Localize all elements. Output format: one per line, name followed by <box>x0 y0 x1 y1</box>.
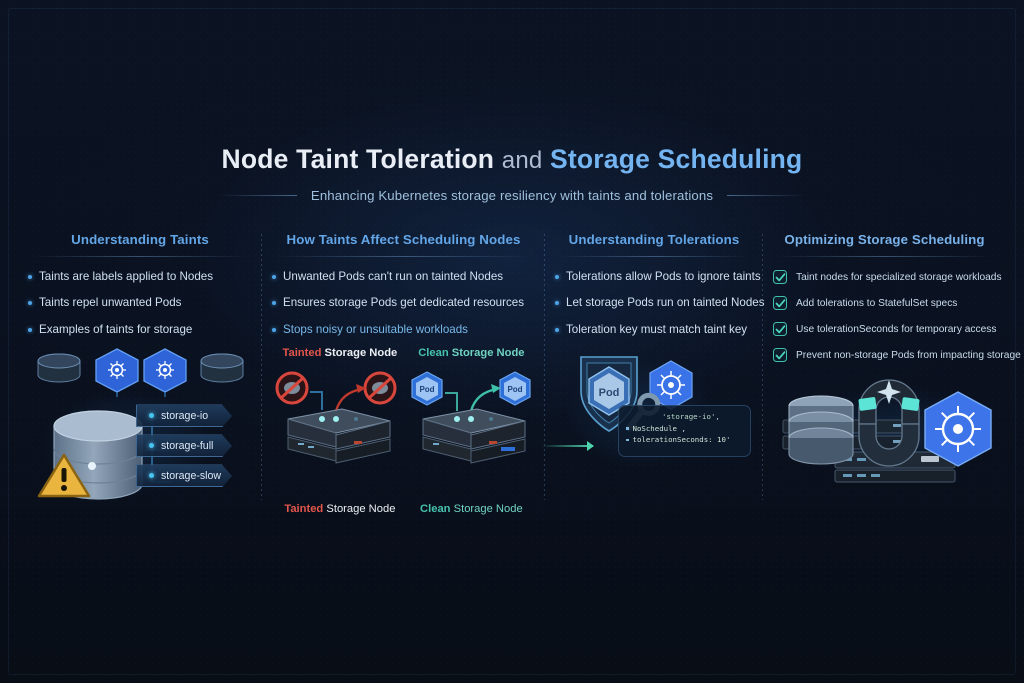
list-item: Toleration key must match taint key <box>555 323 753 337</box>
list-item: Examples of taints for storage <box>28 323 252 337</box>
header: Node Taint Toleration and Storage Schedu… <box>0 144 1024 203</box>
chip-label: storage-slow <box>161 470 221 482</box>
bullet-dot-icon <box>28 275 32 279</box>
list-item: Unwanted Pods can't run on tainted Nodes <box>272 270 535 284</box>
list-item: Taints repel unwanted Pods <box>28 296 252 310</box>
check-icon[interactable] <box>773 322 787 336</box>
no-entry-icon <box>277 373 307 403</box>
chip-storage-io[interactable]: storage-io <box>136 404 232 427</box>
column-optimizing-storage-scheduling: Optimizing Storage Scheduling Taint node… <box>763 232 1006 498</box>
column-4-checklist: Taint nodes for specialized storage work… <box>773 270 996 362</box>
chip-storage-slow[interactable]: storage-slow <box>136 464 232 487</box>
tainted-prefix: Tainted <box>284 503 323 515</box>
column-1-bullet-list: Taints are labels applied to Nodes Taint… <box>28 270 252 337</box>
toleration-code-panel: 'storage-io', NoSchedule , tolerationSec… <box>618 405 751 457</box>
warning-triangle-icon <box>36 451 92 501</box>
subtitle-rule-left <box>219 195 297 196</box>
svg-text:Pod: Pod <box>419 385 434 394</box>
column-1-heading-rule <box>32 256 248 257</box>
check-label: Use tolerationSeconds for temporary acce… <box>796 324 996 335</box>
pod-hexagon-icon: Pod <box>412 372 442 405</box>
column-4-heading-rule <box>777 256 992 257</box>
bullet-dot-icon <box>555 301 559 305</box>
top-node-icons <box>26 345 250 397</box>
chip-dot-icon <box>149 413 154 418</box>
column-understanding-taints: Understanding Taints Taints are labels a… <box>18 232 262 498</box>
list-item: Taints are labels applied to Nodes <box>28 270 252 284</box>
chip-storage-full[interactable]: storage-full <box>136 434 232 457</box>
check-icon[interactable] <box>773 296 787 310</box>
column-3-heading-rule <box>559 256 749 257</box>
column-3-illustration: Pod <box>555 349 753 509</box>
disk-icon <box>38 354 80 382</box>
tainted-node-label-top: Tainted Storage Node <box>282 347 397 359</box>
bullet-text: Let storage Pods run on tainted Nodes <box>566 296 765 310</box>
subtitle-row: Enhancing Kubernetes storage resiliency … <box>0 188 1024 203</box>
clean-prefix: Clean <box>420 503 450 515</box>
kubernetes-hexagon-icon <box>144 349 186 392</box>
clean-suffix: Storage Node <box>452 347 525 359</box>
column-3-heading: Understanding Tolerations <box>555 232 753 256</box>
bullet-dot-icon <box>555 275 559 279</box>
check-label: Add tolerations to StatefulSet specs <box>796 298 957 309</box>
tainted-node-graphic <box>270 367 402 477</box>
tainted-node-label-bottom: Tainted Storage Node <box>284 503 395 515</box>
infographic-canvas: Node Taint Toleration and Storage Schedu… <box>0 0 1024 683</box>
no-entry-icon <box>365 373 395 403</box>
code-line: tolerationSeconds: 10' <box>626 434 743 445</box>
clean-node-graphic: Pod Pod <box>405 367 537 477</box>
column-2-illustration: Tainted Storage Node Clean Storage Node <box>272 349 535 509</box>
code-line: 'storage-io', <box>626 411 743 422</box>
svg-text:Pod: Pod <box>599 387 620 399</box>
page-title: Node Taint Toleration and Storage Schedu… <box>0 144 1024 175</box>
server-node-icon <box>423 409 525 463</box>
pod-hexagon-icon: Pod <box>500 372 530 405</box>
bullet-text: Tolerations allow Pods to ignore taints <box>566 270 761 284</box>
chip-dot-icon <box>149 443 154 448</box>
list-item: Add tolerations to StatefulSet specs <box>773 296 996 310</box>
column-how-taints-affect-scheduling: How Taints Affect Scheduling Nodes Unwan… <box>262 232 545 498</box>
title-part-1: Node Taint Toleration <box>222 144 495 174</box>
code-bullet-icon <box>626 427 629 430</box>
column-4-heading: Optimizing Storage Scheduling <box>773 232 996 256</box>
bullet-text: Stops noisy or unsuitable workloads <box>283 323 468 337</box>
list-item: Use tolerationSeconds for temporary acce… <box>773 322 996 336</box>
storage-optimization-graphic <box>773 374 999 489</box>
check-label: Prevent non-storage Pods from impacting … <box>796 350 1021 361</box>
svg-text:Pod: Pod <box>507 385 522 394</box>
taint-chip-list: storage-io storage-full storage-slow <box>136 404 232 494</box>
code-line: NoSchedule , <box>626 423 743 434</box>
subtitle-rule-right <box>727 195 805 196</box>
page-subtitle: Enhancing Kubernetes storage resiliency … <box>311 188 713 203</box>
bullet-text: Ensures storage Pods get dedicated resou… <box>283 296 524 310</box>
tainted-suffix: Storage Node <box>326 503 395 515</box>
check-icon[interactable] <box>773 348 787 362</box>
code-line-text: 'storage-io', <box>626 411 720 422</box>
list-item: Ensures storage Pods get dedicated resou… <box>272 296 535 310</box>
code-bullet-icon <box>626 439 629 442</box>
list-item: Taint nodes for specialized storage work… <box>773 270 996 284</box>
list-item: Stops noisy or unsuitable workloads <box>272 323 535 337</box>
list-item: Let storage Pods run on tainted Nodes <box>555 296 753 310</box>
column-2-heading: How Taints Affect Scheduling Nodes <box>272 232 535 256</box>
database-stack-icon <box>789 396 853 464</box>
bullet-dot-icon <box>272 301 276 305</box>
column-1-heading: Understanding Taints <box>28 232 252 256</box>
list-item: Tolerations allow Pods to ignore taints <box>555 270 753 284</box>
clean-prefix: Clean <box>418 347 448 359</box>
list-item: Prevent non-storage Pods from impacting … <box>773 348 996 362</box>
bullet-dot-icon <box>272 328 276 332</box>
tainted-suffix: Storage Node <box>325 347 398 359</box>
bullet-dot-icon <box>272 275 276 279</box>
disk-icon <box>201 354 243 382</box>
clean-node-label-top: Clean Storage Node <box>418 347 524 359</box>
chip-dot-icon <box>149 473 154 478</box>
node-labels-top: Tainted Storage Node Clean Storage Node <box>272 347 535 359</box>
column-2-bullet-list: Unwanted Pods can't run on tainted Nodes… <box>272 270 535 337</box>
chip-label: storage-full <box>161 440 213 452</box>
flow-arrow-icon <box>541 445 593 447</box>
bullet-text: Taints are labels applied to Nodes <box>39 270 213 284</box>
column-understanding-tolerations: Understanding Tolerations Tolerations al… <box>545 232 763 498</box>
columns-container: Understanding Taints Taints are labels a… <box>18 232 1006 498</box>
check-label: Taint nodes for specialized storage work… <box>796 272 1002 283</box>
clean-node-label-bottom: Clean Storage Node <box>420 503 523 515</box>
column-3-bullet-list: Tolerations allow Pods to ignore taints … <box>555 270 753 337</box>
node-labels-bottom: Tainted Storage Node Clean Storage Node <box>272 503 535 515</box>
server-node-icon <box>288 409 390 463</box>
code-line-text: NoSchedule , <box>633 423 686 434</box>
bullet-text: Unwanted Pods can't run on tainted Nodes <box>283 270 503 284</box>
check-icon[interactable] <box>773 270 787 284</box>
title-part-2: Storage Scheduling <box>550 144 802 174</box>
clean-suffix: Storage Node <box>454 503 523 515</box>
bullet-text: Taints repel unwanted Pods <box>39 296 181 310</box>
bullet-dot-icon <box>28 328 32 332</box>
tainted-prefix: Tainted <box>282 347 321 359</box>
column-4-illustration <box>773 374 996 494</box>
title-conjunction: and <box>502 147 543 174</box>
column-2-heading-rule <box>276 256 531 257</box>
connector-lines <box>117 392 165 397</box>
chip-label: storage-io <box>161 410 208 422</box>
kubernetes-hexagon-icon <box>96 349 138 392</box>
code-line-text: tolerationSeconds: 10' <box>633 434 731 445</box>
bullet-dot-icon <box>555 328 559 332</box>
bullet-dot-icon <box>28 301 32 305</box>
column-1-illustration: storage-io storage-full storage-slow <box>28 349 252 514</box>
bullet-text: Toleration key must match taint key <box>566 323 747 337</box>
bullet-text: Examples of taints for storage <box>39 323 192 337</box>
